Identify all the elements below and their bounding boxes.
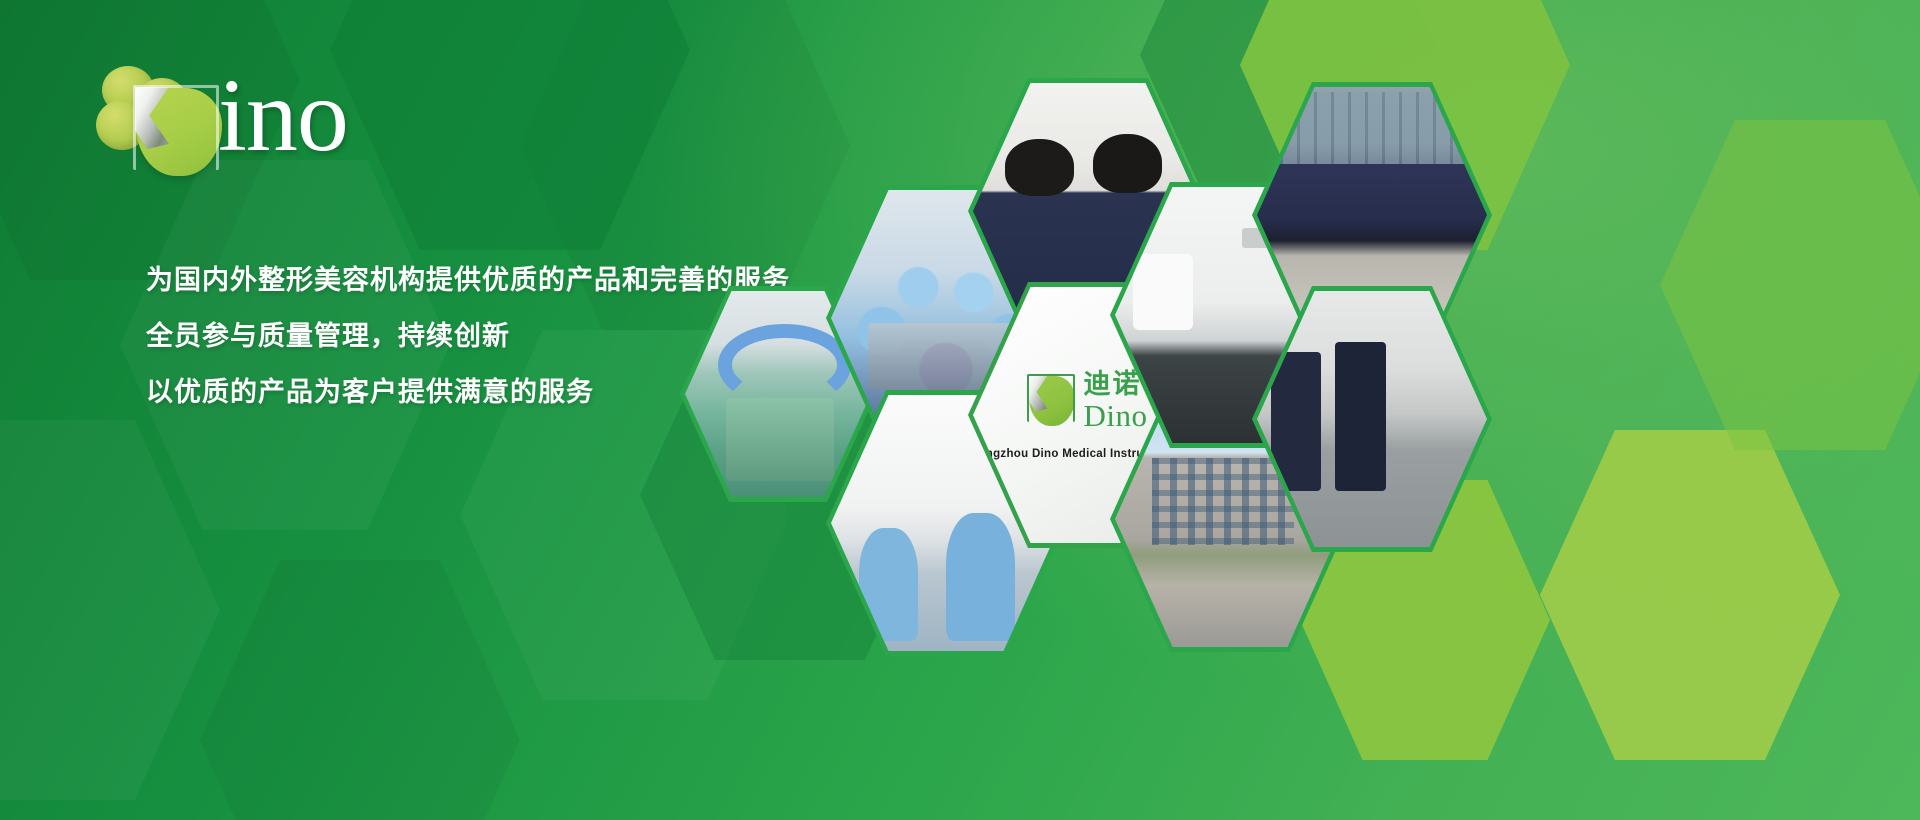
logo-frame-icon <box>133 85 219 170</box>
badge-leaf-icon <box>1029 376 1075 426</box>
dino-logo[interactable]: ino <box>96 66 426 176</box>
hexagon-photo-gallery: 迪诺® Dino Hangzhou Dino Medical Instrumen… <box>680 90 1480 610</box>
badge-brand-en: Dino <box>1084 400 1148 431</box>
badge-brand-cn-text: 迪诺 <box>1084 369 1142 399</box>
badge-brand-cn: 迪诺® <box>1084 371 1142 398</box>
logo-wordmark: ino <box>218 64 348 168</box>
hero-banner: ino 为国内外整形美容机构提供优质的产品和完善的服务 全员参与质量管理，持续创… <box>0 0 1920 820</box>
badge-logo-mark: 迪诺® Dino <box>1029 371 1148 431</box>
